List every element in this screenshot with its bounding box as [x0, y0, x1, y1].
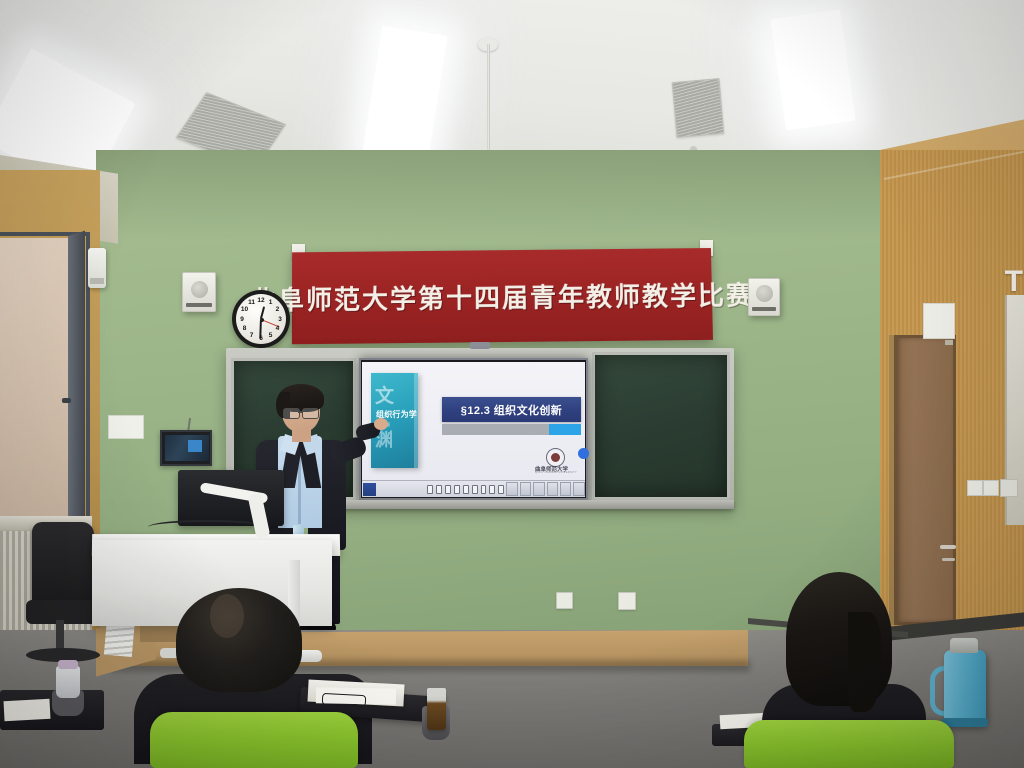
save-icon[interactable] [489, 485, 495, 494]
event-banner: 曲阜师范大学第十四届青年教师教学比赛 [292, 248, 713, 344]
clock-center-pin [260, 318, 264, 322]
clock-hour-label: 7 [248, 331, 256, 340]
window-sash-open[interactable] [68, 231, 85, 528]
wall-monitor-screen [165, 435, 209, 461]
wall-clock: 121234567891011 [232, 290, 290, 348]
board-camera [470, 342, 490, 349]
book-char-wen: 文 [375, 387, 394, 406]
right-wall-sign: T [1005, 265, 1024, 299]
audience-left-hair-highlight [210, 594, 244, 638]
clock-hour-label: 8 [241, 324, 249, 333]
accessibility-badge-icon [578, 448, 589, 459]
speaker-cone-right [756, 285, 773, 302]
grid-icon[interactable] [498, 485, 504, 494]
tea-bottle-cap [427, 688, 446, 695]
light-switch-2[interactable] [983, 480, 999, 496]
classroom-scene: T 曲阜师范大学第十四届青年教师教学比赛 121234567891011 [0, 0, 1024, 768]
clock-hour-label: 6 [257, 334, 265, 343]
presenter-glasses-bridge [298, 411, 302, 413]
screen-taskbar[interactable] [362, 480, 585, 497]
window-2[interactable] [520, 482, 531, 496]
green-chalkboard-right [592, 352, 730, 500]
wall-monitor-window [188, 440, 202, 452]
wall-outlet-right[interactable] [618, 592, 636, 610]
wall-utility-box [108, 415, 144, 439]
audience-right-hair-side [848, 612, 882, 712]
slide-title-bar: §12.3 组织文化创新 [442, 397, 581, 422]
window-4[interactable] [547, 482, 558, 496]
seal-inner-mark [551, 453, 560, 462]
slide-accent-bar-grey [442, 424, 549, 435]
speaker-slot-left [186, 303, 212, 307]
light-switch-1[interactable] [967, 480, 983, 496]
pointer-icon[interactable] [427, 485, 433, 494]
wall-mounted-monitor [160, 430, 212, 466]
line-icon[interactable] [472, 485, 478, 494]
door-handle[interactable] [940, 545, 956, 549]
clock-hour-label: 2 [273, 305, 281, 314]
university-name-en: QUFU NORMAL UNIVERSITY [535, 471, 577, 474]
office-chair-back [32, 522, 94, 606]
window-6[interactable] [573, 482, 584, 496]
window-handle[interactable] [62, 398, 71, 403]
podium-monitor [178, 470, 284, 526]
clock-hour-label: 3 [276, 315, 284, 324]
shape-icon[interactable] [454, 485, 460, 494]
clock-hour-label: 5 [267, 331, 275, 340]
door-access-panel [923, 303, 955, 339]
circle-icon[interactable] [463, 485, 469, 494]
desk-cables [148, 520, 268, 534]
book-spine-edge [414, 373, 418, 468]
pen-icon[interactable] [436, 485, 442, 494]
green-chair-left [150, 712, 358, 768]
air-conditioner-vent [90, 278, 104, 284]
clock-hour-label: 11 [248, 298, 256, 307]
door-hinge [945, 340, 953, 345]
thermostat[interactable] [1000, 479, 1018, 497]
event-banner-text: 曲阜师范大学第十四届青年教师教学比赛 [250, 275, 755, 317]
tea-bottle [427, 692, 446, 730]
window-3[interactable] [533, 482, 544, 496]
foreground-cup-lid [58, 660, 78, 669]
back-wall-shading [96, 150, 906, 240]
presenter-glasses-right-lens [302, 408, 319, 419]
presenter-glasses-left-lens [283, 408, 300, 419]
clock-hour-label: 4 [273, 324, 281, 333]
speaker-cone-left [191, 281, 208, 298]
clock-hour-label: 9 [238, 315, 246, 324]
door-handle-lower[interactable] [942, 558, 955, 561]
clock-hour-label: 12 [257, 296, 265, 305]
slide-title-text: §12.3 组织文化创新 [461, 402, 562, 418]
slide-accent-bar-blue [549, 424, 581, 435]
foreground-paper [4, 699, 51, 721]
window-1[interactable] [506, 482, 517, 496]
green-chair-right [744, 720, 954, 768]
start-button[interactable] [363, 483, 376, 496]
text-icon[interactable] [481, 485, 487, 494]
ceiling-vent-right [672, 78, 725, 138]
speaker-slot-right [752, 307, 776, 311]
university-logo: 曲阜师范大学 QUFU NORMAL UNIVERSITY [535, 448, 577, 474]
presenter-pointing-hand [374, 418, 388, 430]
wall-speaker-left [182, 272, 216, 312]
wall-speaker-right [748, 278, 780, 316]
wall-outlet-left[interactable] [556, 592, 573, 609]
window-5[interactable] [560, 482, 571, 496]
eraser-icon[interactable] [445, 485, 451, 494]
foreground-water-cup [56, 666, 80, 698]
eyeglasses-on-desk [322, 693, 367, 707]
